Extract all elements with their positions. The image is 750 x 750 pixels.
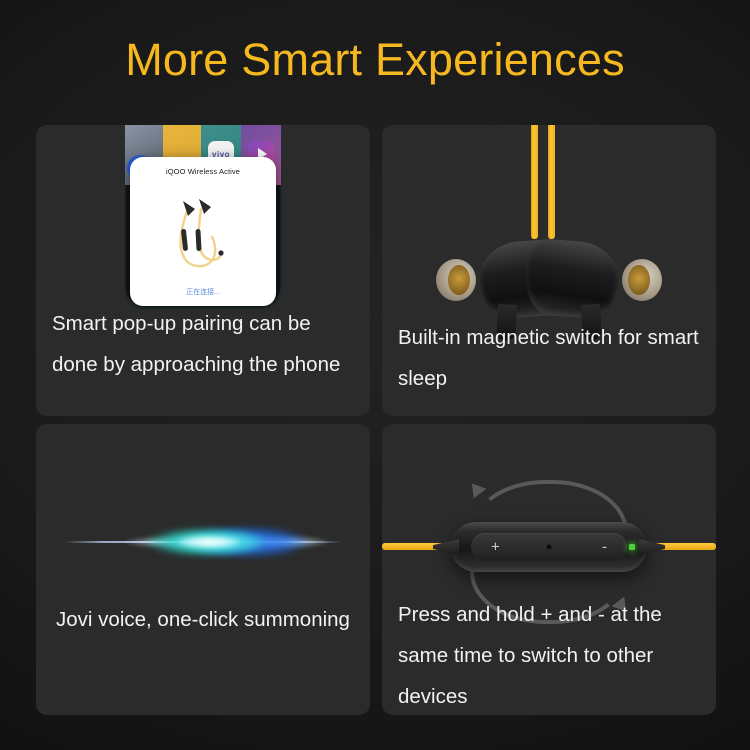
eartip-core-left xyxy=(448,265,470,295)
product-feature-page: More Smart Experiences vivo xyxy=(0,0,750,750)
status-led-indicator xyxy=(629,544,635,550)
feature-caption: Press and hold + and - at the same time … xyxy=(382,594,716,715)
inline-remote-illustration: + - xyxy=(382,424,716,619)
rotation-arrowhead-top-icon xyxy=(466,478,487,498)
feature-caption: Built-in magnetic switch for smart sleep xyxy=(382,317,716,399)
feature-card-grid: vivo iQOO Wireless Active xyxy=(36,125,716,715)
feature-card-magnetic-switch: Built-in magnetic switch for smart sleep xyxy=(382,125,716,416)
pairing-device-name: iQOO Wireless Active xyxy=(130,167,276,176)
volume-down-button[interactable]: - xyxy=(602,540,607,555)
feature-card-jovi-voice: Jovi voice, one-click summoning xyxy=(36,424,370,715)
cable-right xyxy=(548,125,555,239)
microphone-hole-icon xyxy=(547,545,551,549)
feature-card-smart-popup-pairing: vivo iQOO Wireless Active xyxy=(36,125,370,416)
pairing-popup-card: iQOO Wireless Active 正在连接... xyxy=(130,157,276,306)
page-title: More Smart Experiences xyxy=(0,34,750,86)
earbuds-scene xyxy=(382,125,716,325)
feature-caption: Smart pop-up pairing can be done by appr… xyxy=(36,303,370,385)
waveform-baseline xyxy=(64,541,342,543)
phone-mockup: vivo iQOO Wireless Active xyxy=(123,125,283,309)
volume-up-button[interactable]: + xyxy=(491,540,500,555)
feature-caption: Jovi voice, one-click summoning xyxy=(36,599,370,640)
magnetic-earbuds-illustration xyxy=(382,125,716,325)
earphone-illustration-icon xyxy=(157,189,249,281)
eartip-core-right xyxy=(628,265,650,295)
feature-card-device-switch: + - Press and hold + and - at the same t… xyxy=(382,424,716,715)
inline-remote-module: + - xyxy=(451,522,647,572)
cable-left xyxy=(531,125,538,239)
pairing-status-text: 正在连接... xyxy=(130,287,276,297)
waveform-glow-core xyxy=(178,537,240,548)
earbuds-pair xyxy=(418,231,680,329)
remote-button-pad: + - xyxy=(471,533,627,561)
phone-pairing-illustration: vivo iQOO Wireless Active xyxy=(36,125,370,310)
earbud-right xyxy=(523,238,620,320)
